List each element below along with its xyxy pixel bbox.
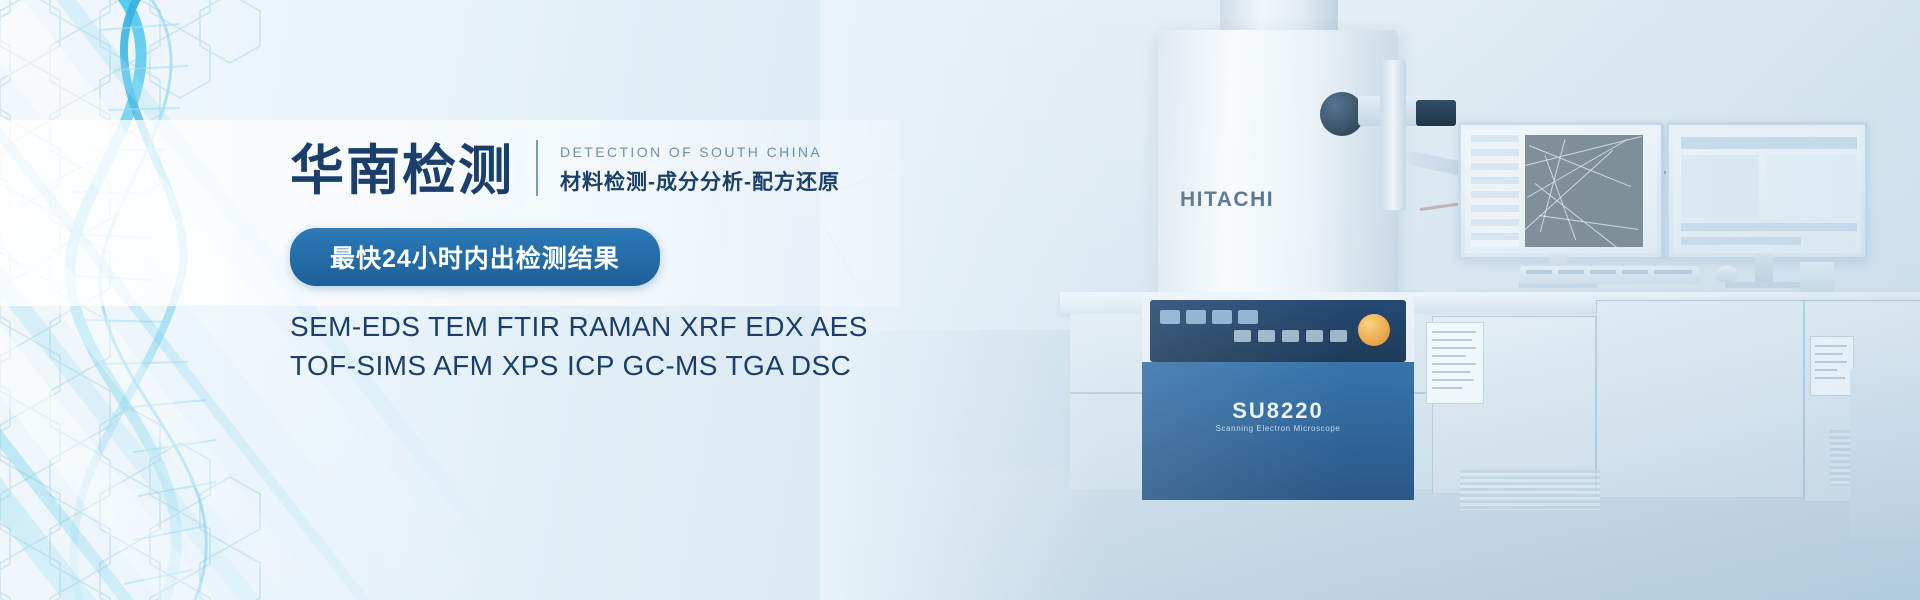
instrument-model-sublabel: Scanning Electron Microscope <box>1142 424 1414 433</box>
monitor-right-stand <box>1755 254 1773 282</box>
panel-button <box>1212 310 1232 324</box>
technique-list: SEM-EDS TEM FTIR RAMAN XRF EDX AES TOF-S… <box>290 308 990 385</box>
sem-side-arm <box>1405 150 1525 189</box>
brand-name-en: DETECTION OF SOUTH CHINA <box>560 144 840 160</box>
brand-row: 华南检测 DETECTION OF SOUTH CHINA 材料检测-成分分析-… <box>290 140 990 198</box>
vent-grille-center <box>1460 470 1600 510</box>
lab-benchtop <box>1060 292 1920 314</box>
sem-column-collar <box>1212 150 1352 230</box>
panel-button <box>1282 330 1299 342</box>
sem-stage-arm <box>1380 60 1406 210</box>
sem-detector-housing <box>1358 96 1424 126</box>
panel-button-row-top <box>1160 310 1258 324</box>
pc-tower <box>1800 262 1834 292</box>
edx-detector-box: EDX <box>1514 168 1562 214</box>
panel-button <box>1238 310 1258 324</box>
keyboard <box>1520 266 1700 284</box>
sem-detector-dark <box>1416 100 1456 126</box>
lab-bench-body <box>1070 314 1920 489</box>
cabinet-center <box>1596 300 1804 498</box>
panel-amber-knob <box>1358 314 1390 346</box>
brand-tagline-group: DETECTION OF SOUTH CHINA 材料检测-成分分析-配方还原 <box>560 144 840 198</box>
technique-line-2: TOF-SIMS AFM XPS ICP GC-MS TGA DSC <box>290 347 990 386</box>
panel-button <box>1186 310 1206 324</box>
panel-button <box>1330 330 1347 342</box>
cabinet-left <box>1432 316 1596 494</box>
monitor-left-toolbar <box>1471 135 1519 247</box>
cabinet-right <box>1804 300 1920 502</box>
panel-button <box>1234 330 1251 342</box>
sem-column <box>1220 0 1338 280</box>
lab-floor <box>820 470 1920 600</box>
panel-button <box>1306 330 1323 342</box>
monitor-right <box>1666 122 1868 260</box>
banner-text-block: 华南检测 DETECTION OF SOUTH CHINA 材料检测-成分分析-… <box>290 140 990 400</box>
turnaround-badge[interactable]: 最快24小时内出检测结果 <box>290 228 660 286</box>
sem-base <box>1142 292 1414 500</box>
monitor-left-screen <box>1465 129 1657 253</box>
posted-document-left <box>1426 322 1484 404</box>
sem-micrograph-image <box>1525 135 1643 247</box>
monitor-left <box>1458 122 1664 260</box>
mouse <box>1716 266 1738 282</box>
brand-divider <box>536 140 538 196</box>
instrument-brand-label: HITACHI <box>1180 188 1380 212</box>
posted-document-right <box>1810 336 1854 396</box>
monitor-right-foot <box>1725 282 1803 288</box>
monitor-right-screen <box>1673 129 1861 253</box>
monitor-left-stand <box>1549 254 1567 282</box>
instrument-model-label: SU8220 <box>1142 398 1414 424</box>
monitor-left-foot <box>1519 282 1597 288</box>
panel-button <box>1258 330 1275 342</box>
vent-grille-right <box>1830 430 1920 486</box>
edx-label: EDX <box>1523 185 1540 192</box>
cable-red <box>1420 189 1559 211</box>
sem-control-panel <box>1150 300 1406 362</box>
auxiliary-equipment <box>1850 368 1920 538</box>
cable-gray <box>1540 160 1759 182</box>
technique-line-1: SEM-EDS TEM FTIR RAMAN XRF EDX AES <box>290 308 990 347</box>
panel-button-row-bottom <box>1234 330 1347 342</box>
panel-button <box>1160 310 1180 324</box>
lab-bench-edge <box>1070 392 1920 394</box>
brand-services-subtitle: 材料检测-成分分析-配方还原 <box>560 166 840 196</box>
brand-name-cn: 华南检测 <box>290 144 514 198</box>
sem-lower-chamber <box>1142 362 1414 500</box>
sem-detector-round <box>1320 92 1364 136</box>
hero-banner: HITACHI EDX <box>0 0 1920 600</box>
sem-body <box>1158 30 1398 300</box>
